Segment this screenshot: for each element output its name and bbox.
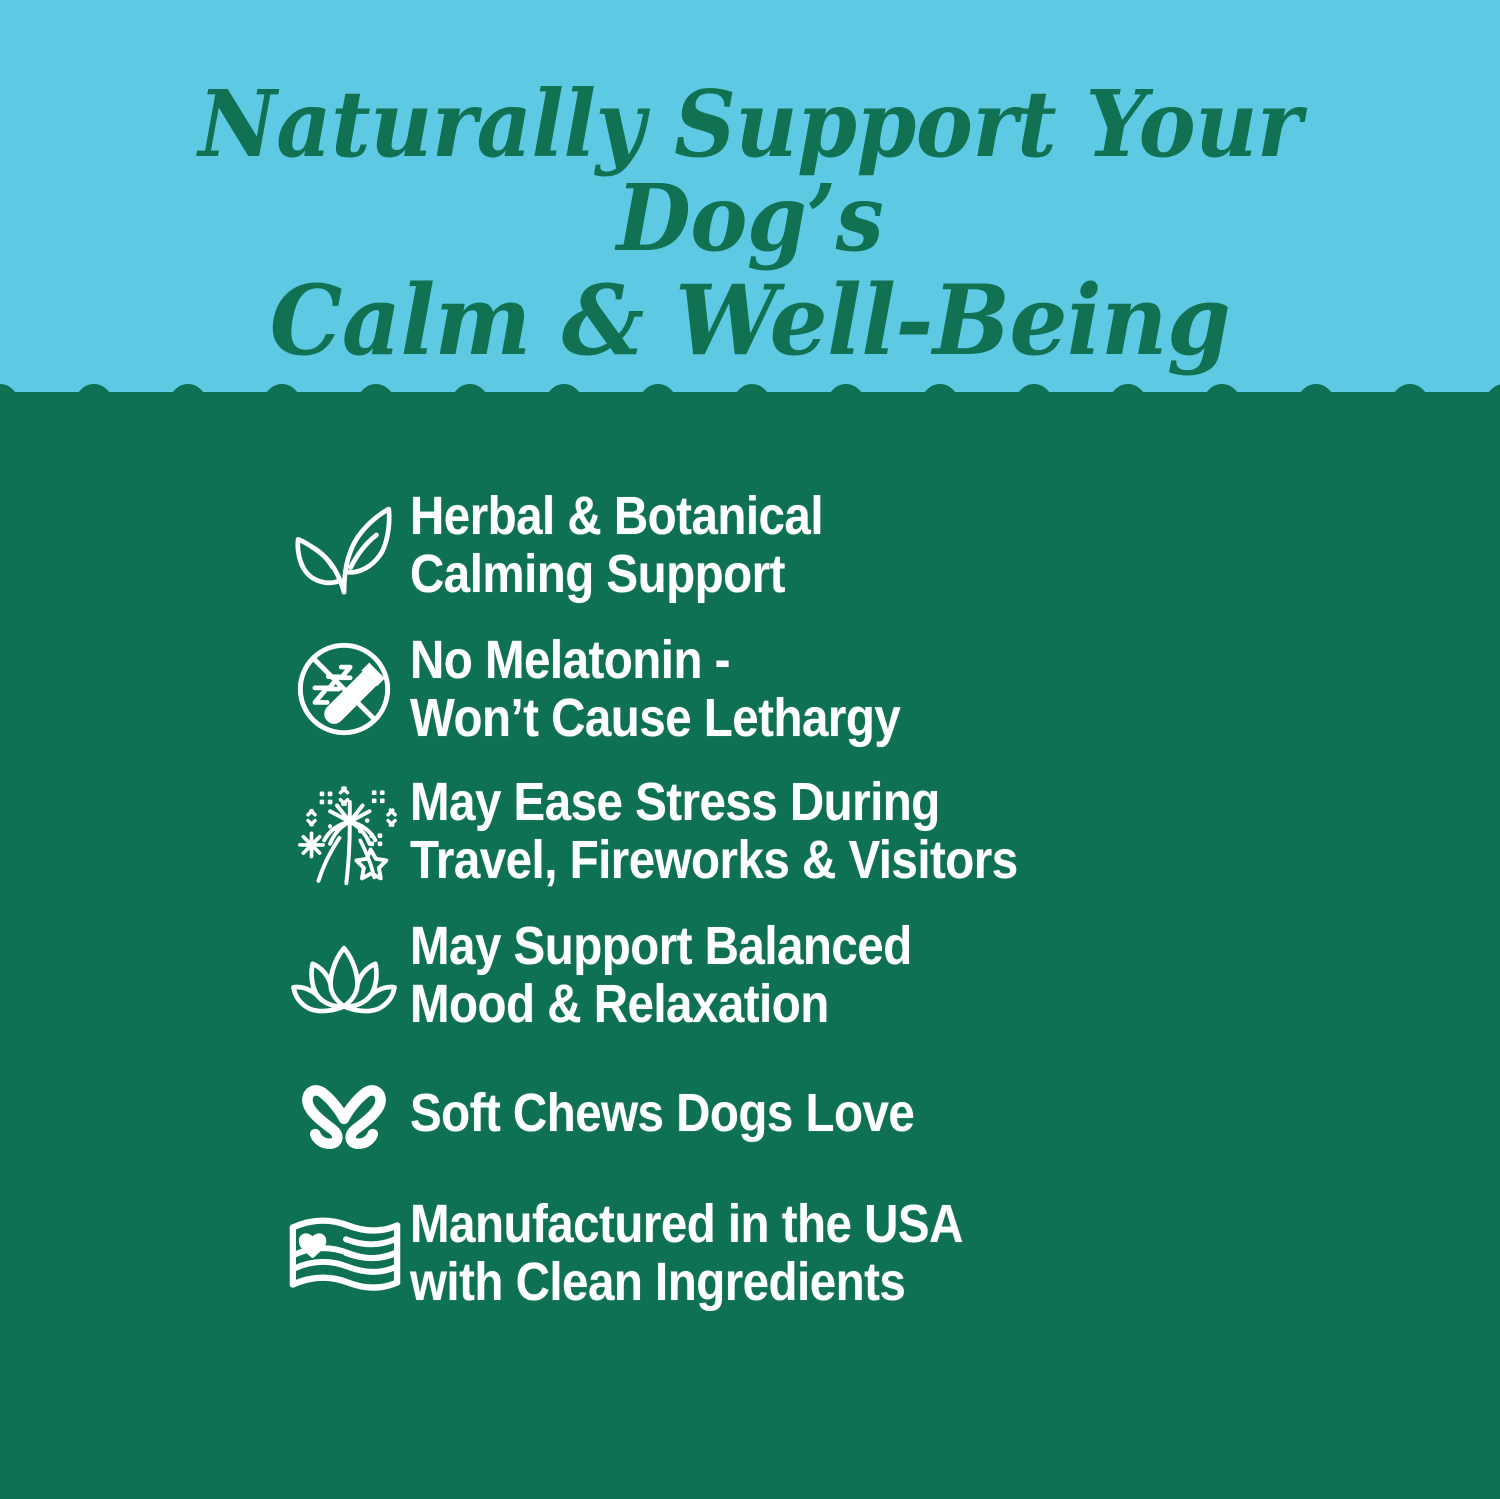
benefit-item-stress-travel: May Ease Stress During Travel, Fireworks… — [278, 772, 1278, 890]
benefit-item-made-in-usa: Manufactured in the USA with Clean Ingre… — [278, 1194, 1278, 1312]
usa-flag-heart-icon — [278, 1194, 410, 1312]
headline-banner: Naturally Support Your Dog’s Calm & Well… — [0, 0, 1500, 392]
wavy-divider — [0, 376, 1500, 426]
benefit-item-soft-chews: Soft Chews Dogs Love — [278, 1054, 1278, 1172]
benefit-item-balanced-mood: May Support Balanced Mood & Relaxation — [278, 916, 1278, 1034]
benefit-label: Herbal & Botanical Calming Support — [410, 487, 1174, 604]
headline-line-1: Naturally Support Your Dog’s — [53, 78, 1448, 266]
lotus-flower-icon — [278, 916, 410, 1034]
headline-line-2: Calm & Well-Being — [38, 272, 1463, 370]
benefit-label: Soft Chews Dogs Love — [410, 1084, 1174, 1142]
no-melatonin-icon — [278, 630, 410, 748]
benefits-list: Herbal & Botanical Calming Support — [278, 486, 1278, 1312]
benefit-item-herbal-botanical: Herbal & Botanical Calming Support — [278, 486, 1278, 604]
benefit-label: Manufactured in the USA with Clean Ingre… — [410, 1195, 1174, 1312]
benefit-item-no-melatonin: No Melatonin - Won’t Cause Lethargy — [278, 630, 1278, 748]
page-title: Naturally Support Your Dog’s Calm & Well… — [0, 78, 1500, 370]
product-benefits-poster: Naturally Support Your Dog’s Calm & Well… — [0, 0, 1500, 1499]
benefit-label: May Support Balanced Mood & Relaxation — [410, 917, 1174, 1034]
benefit-label: No Melatonin - Won’t Cause Lethargy — [410, 631, 1174, 748]
heart-chew-icon — [278, 1054, 410, 1172]
fireworks-icon — [278, 772, 410, 890]
benefit-label: May Ease Stress During Travel, Fireworks… — [410, 773, 1174, 890]
leaf-sprout-icon — [278, 486, 410, 604]
